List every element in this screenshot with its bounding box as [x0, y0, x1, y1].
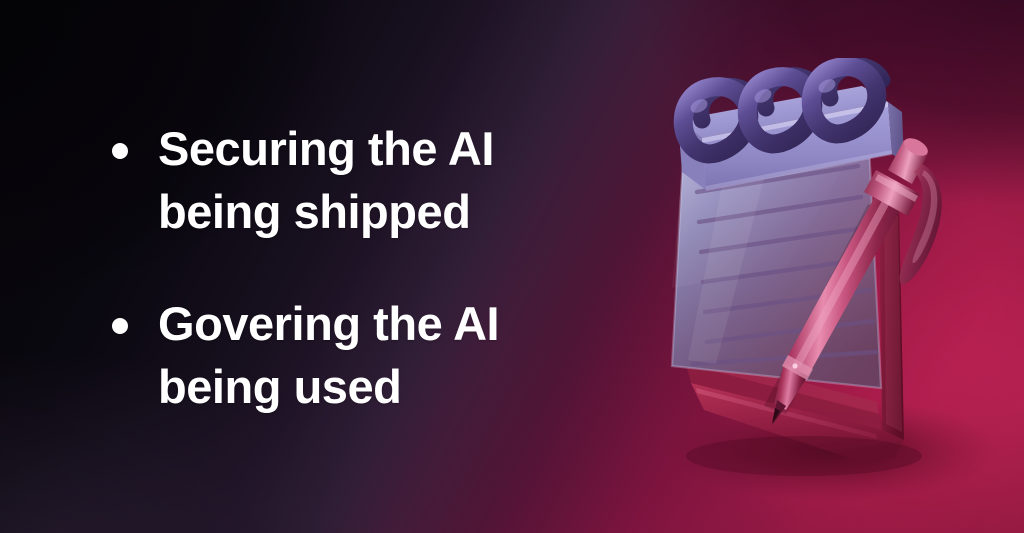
bullet-dot-icon — [112, 143, 128, 159]
bullet-text-govering: Govering the AI being used — [158, 293, 499, 418]
bullet-item-govering: Govering the AI being used — [112, 293, 582, 418]
bullet-text-securing: Securing the AI being shipped — [158, 118, 494, 243]
slide-canvas: Securing the AI being shipped Govering t… — [0, 0, 1024, 533]
bullet-item-securing: Securing the AI being shipped — [112, 118, 582, 243]
bullet-dot-icon — [112, 318, 128, 334]
bullet-list: Securing the AI being shipped Govering t… — [112, 118, 582, 418]
spiral-notepad-with-pen-illustration — [636, 58, 1008, 504]
